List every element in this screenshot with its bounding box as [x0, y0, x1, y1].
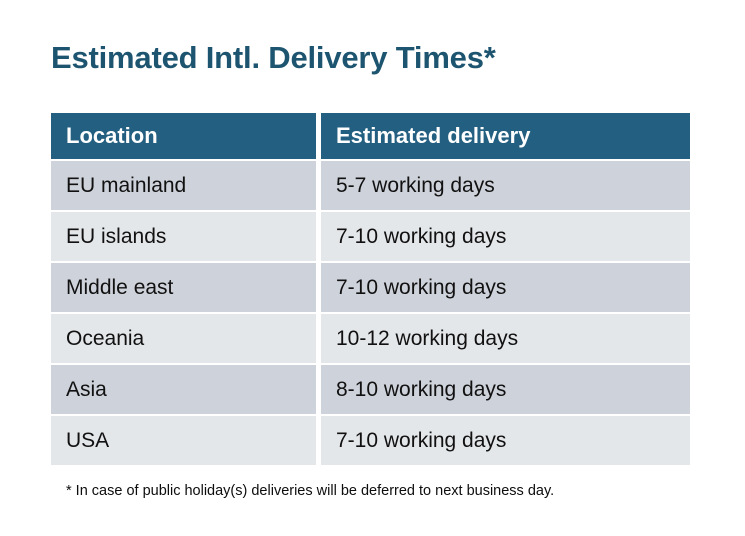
cell-estimated-delivery: 8-10 working days [321, 365, 690, 414]
table-header-row: Location Estimated delivery [51, 113, 690, 159]
cell-location: Asia [51, 365, 316, 414]
cell-location: EU mainland [51, 161, 316, 210]
table-row: Oceania 10-12 working days [51, 314, 690, 363]
cell-location: EU islands [51, 212, 316, 261]
table-row: EU mainland 5-7 working days [51, 161, 690, 210]
cell-location: Oceania [51, 314, 316, 363]
table-row: EU islands 7-10 working days [51, 212, 690, 261]
cell-estimated-delivery: 7-10 working days [321, 263, 690, 312]
table-row: Asia 8-10 working days [51, 365, 690, 414]
delivery-times-table: Location Estimated delivery EU mainland … [51, 113, 690, 465]
cell-location: Middle east [51, 263, 316, 312]
cell-estimated-delivery: 5-7 working days [321, 161, 690, 210]
cell-location: USA [51, 416, 316, 465]
column-header-location: Location [51, 113, 316, 159]
cell-estimated-delivery: 7-10 working days [321, 212, 690, 261]
footnote: * In case of public holiday(s) deliverie… [66, 481, 554, 501]
cell-estimated-delivery: 10-12 working days [321, 314, 690, 363]
delivery-times-card: Estimated Intl. Delivery Times* Location… [0, 0, 745, 536]
page-title: Estimated Intl. Delivery Times* [51, 38, 496, 78]
table-row: Middle east 7-10 working days [51, 263, 690, 312]
column-header-estimated-delivery: Estimated delivery [321, 113, 690, 159]
table-row: USA 7-10 working days [51, 416, 690, 465]
cell-estimated-delivery: 7-10 working days [321, 416, 690, 465]
